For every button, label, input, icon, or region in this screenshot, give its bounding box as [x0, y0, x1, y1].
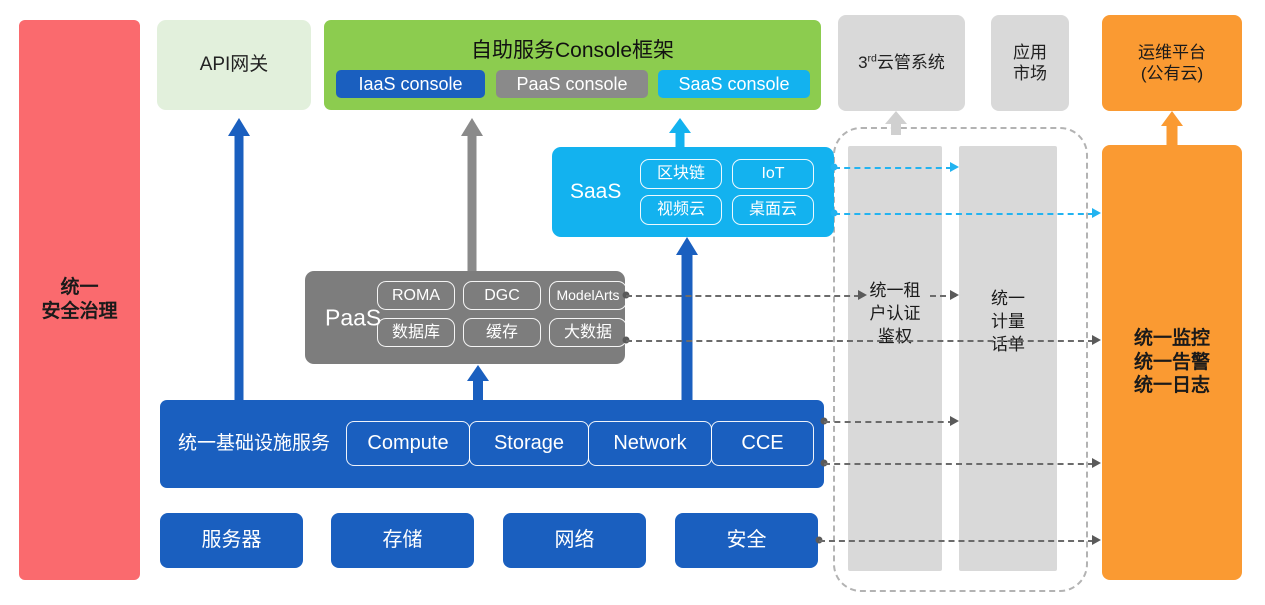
infra-item-compute[interactable]: Compute — [346, 421, 470, 466]
saas-item-desktop-cloud-label: 桌面云 — [749, 200, 797, 220]
paas-item-roma[interactable]: ROMA — [377, 281, 455, 310]
saas-item-blockchain-label: 区块链 — [657, 164, 705, 184]
ops-platform-top-line1: 运维平台 — [1138, 42, 1206, 63]
saas-item-blockchain[interactable]: 区块链 — [640, 159, 722, 189]
ops-side-line3: 统一日志 — [1134, 374, 1210, 398]
infrastructure-bar: 统一基础设施服务 Compute Storage Network CCE — [160, 400, 824, 488]
tenant-auth-line3: 鉴权 — [848, 326, 942, 349]
arrow-paas-to-console — [461, 118, 483, 271]
saas-box: SaaS 区块链 IoT 视频云 桌面云 — [552, 147, 834, 237]
paas-item-dgc-label: DGC — [484, 286, 520, 306]
paas-item-roma-label: ROMA — [392, 286, 440, 306]
resource-tile-server-label: 服务器 — [202, 528, 262, 553]
app-market-line1: 应用 — [1013, 42, 1047, 63]
infra-item-storage-label: Storage — [494, 431, 564, 456]
arrow-infra-to-saas — [676, 237, 698, 400]
app-market-line2: 市场 — [1013, 63, 1047, 84]
app-market-box[interactable]: 应用 市场 — [991, 15, 1069, 111]
metering-line2: 计量 — [959, 311, 1057, 334]
architecture-diagram: 统一 安全治理 API网关 自助服务Console框架 IaaS console… — [0, 0, 1265, 605]
paas-console-chip[interactable]: PaaS console — [496, 70, 648, 98]
paas-item-cache[interactable]: 缓存 — [463, 318, 541, 347]
paas-item-modelarts[interactable]: ModelArts — [549, 281, 627, 310]
tenant-auth-line2: 户认证 — [848, 303, 942, 326]
saas-item-video-cloud-label: 视频云 — [657, 200, 705, 220]
api-gateway-box[interactable]: API网关 — [157, 20, 311, 110]
paas-item-dgc[interactable]: DGC — [463, 281, 541, 310]
resource-tile-security[interactable]: 安全 — [675, 513, 818, 568]
dashed-line-resources-to-ops — [819, 540, 1094, 542]
resource-tile-network-label: 网络 — [555, 528, 595, 553]
arrowhead-resources-to-ops — [1092, 535, 1101, 545]
arrowhead-paas-to-ops — [1092, 335, 1101, 345]
saas-console-label: SaaS console — [678, 73, 789, 96]
security-governance-panel: 统一 安全治理 — [19, 20, 140, 580]
tenant-auth-column — [848, 146, 942, 571]
ops-platform-top-box[interactable]: 运维平台 (公有云) — [1102, 15, 1242, 111]
resource-tile-storage[interactable]: 存储 — [331, 513, 474, 568]
infra-item-storage[interactable]: Storage — [469, 421, 589, 466]
resource-tile-security-label: 安全 — [727, 528, 767, 553]
paas-console-label: PaaS console — [516, 73, 627, 96]
arrowhead-paas-to-tenant-auth — [858, 290, 867, 300]
saas-console-chip[interactable]: SaaS console — [658, 70, 810, 98]
saas-item-video-cloud[interactable]: 视频云 — [640, 195, 722, 225]
infra-item-compute-label: Compute — [367, 431, 448, 456]
ops-side-line1: 统一监控 — [1134, 327, 1210, 351]
saas-item-desktop-cloud[interactable]: 桌面云 — [732, 195, 814, 225]
security-governance-line2: 安全治理 — [41, 300, 117, 324]
arrowhead-infra-to-metering — [950, 416, 959, 426]
arrowhead-tenant-auth-to-metering — [950, 290, 959, 300]
arrow-saas-to-console — [669, 118, 691, 147]
api-gateway-label: API网关 — [200, 53, 269, 77]
dashed-line-paas-to-tenant-auth — [626, 295, 860, 297]
saas-item-iot[interactable]: IoT — [732, 159, 814, 189]
infra-item-cce[interactable]: CCE — [711, 421, 814, 466]
dashed-line-paas-to-ops — [626, 340, 1094, 342]
paas-item-database[interactable]: 数据库 — [377, 318, 455, 347]
third-party-cloud-mgmt-box[interactable]: 3rd云管系统 — [838, 15, 965, 111]
third-party-cloud-mgmt-label: 3rd云管系统 — [858, 52, 945, 73]
metering-billing-column — [959, 146, 1057, 571]
paas-item-database-label: 数据库 — [392, 323, 440, 343]
paas-label: PaaS — [325, 303, 381, 332]
arrowhead-infra-to-ops — [1092, 458, 1101, 468]
dashed-line-infra-to-ops — [824, 463, 1094, 465]
infra-item-network-label: Network — [613, 431, 686, 456]
arrowhead-saas-to-metering — [950, 162, 959, 172]
infra-item-network[interactable]: Network — [588, 421, 712, 466]
dashed-line-saas-to-ops — [834, 213, 1094, 215]
dashed-line-infra-to-metering — [824, 421, 954, 423]
arrowhead-saas-to-ops — [1092, 208, 1101, 218]
resource-tile-storage-label: 存储 — [383, 528, 423, 553]
metering-line1: 统一 — [959, 288, 1057, 311]
iaas-console-label: IaaS console — [358, 73, 462, 96]
console-framework-title: 自助服务Console框架 — [324, 38, 821, 64]
dashed-line-saas-to-metering — [834, 167, 952, 169]
metering-line3: 话单 — [959, 334, 1057, 357]
saas-label: SaaS — [570, 179, 621, 205]
resource-tile-network[interactable]: 网络 — [503, 513, 646, 568]
ops-platform-top-line2: (公有云) — [1141, 63, 1203, 84]
iaas-console-chip[interactable]: IaaS console — [336, 70, 485, 98]
paas-item-cache-label: 缓存 — [486, 323, 518, 343]
paas-item-bigdata-label: 大数据 — [564, 323, 612, 343]
paas-item-modelarts-label: ModelArts — [556, 287, 619, 305]
infra-item-cce-label: CCE — [741, 431, 783, 456]
arrow-shared-to-third-party — [885, 111, 907, 135]
console-framework-box: 自助服务Console框架 IaaS console PaaS console … — [324, 20, 821, 110]
paas-box: PaaS ROMA DGC ModelArts 数据库 缓存 大数据 — [305, 271, 625, 364]
arrow-infra-to-paas — [467, 365, 489, 400]
infrastructure-label: 统一基础设施服务 — [178, 432, 330, 456]
security-governance-line1: 统一 — [60, 276, 98, 300]
resource-tile-server[interactable]: 服务器 — [160, 513, 303, 568]
arrow-infra-to-api-gateway — [228, 118, 250, 400]
arrow-ops-side-to-top — [1161, 111, 1183, 145]
ops-platform-side-panel: 统一监控 统一告警 统一日志 — [1102, 145, 1242, 580]
paas-item-bigdata[interactable]: 大数据 — [549, 318, 627, 347]
ops-side-line2: 统一告警 — [1134, 351, 1210, 375]
saas-item-iot-label: IoT — [761, 164, 784, 184]
metering-billing-label: 统一 计量 话单 — [959, 288, 1057, 357]
